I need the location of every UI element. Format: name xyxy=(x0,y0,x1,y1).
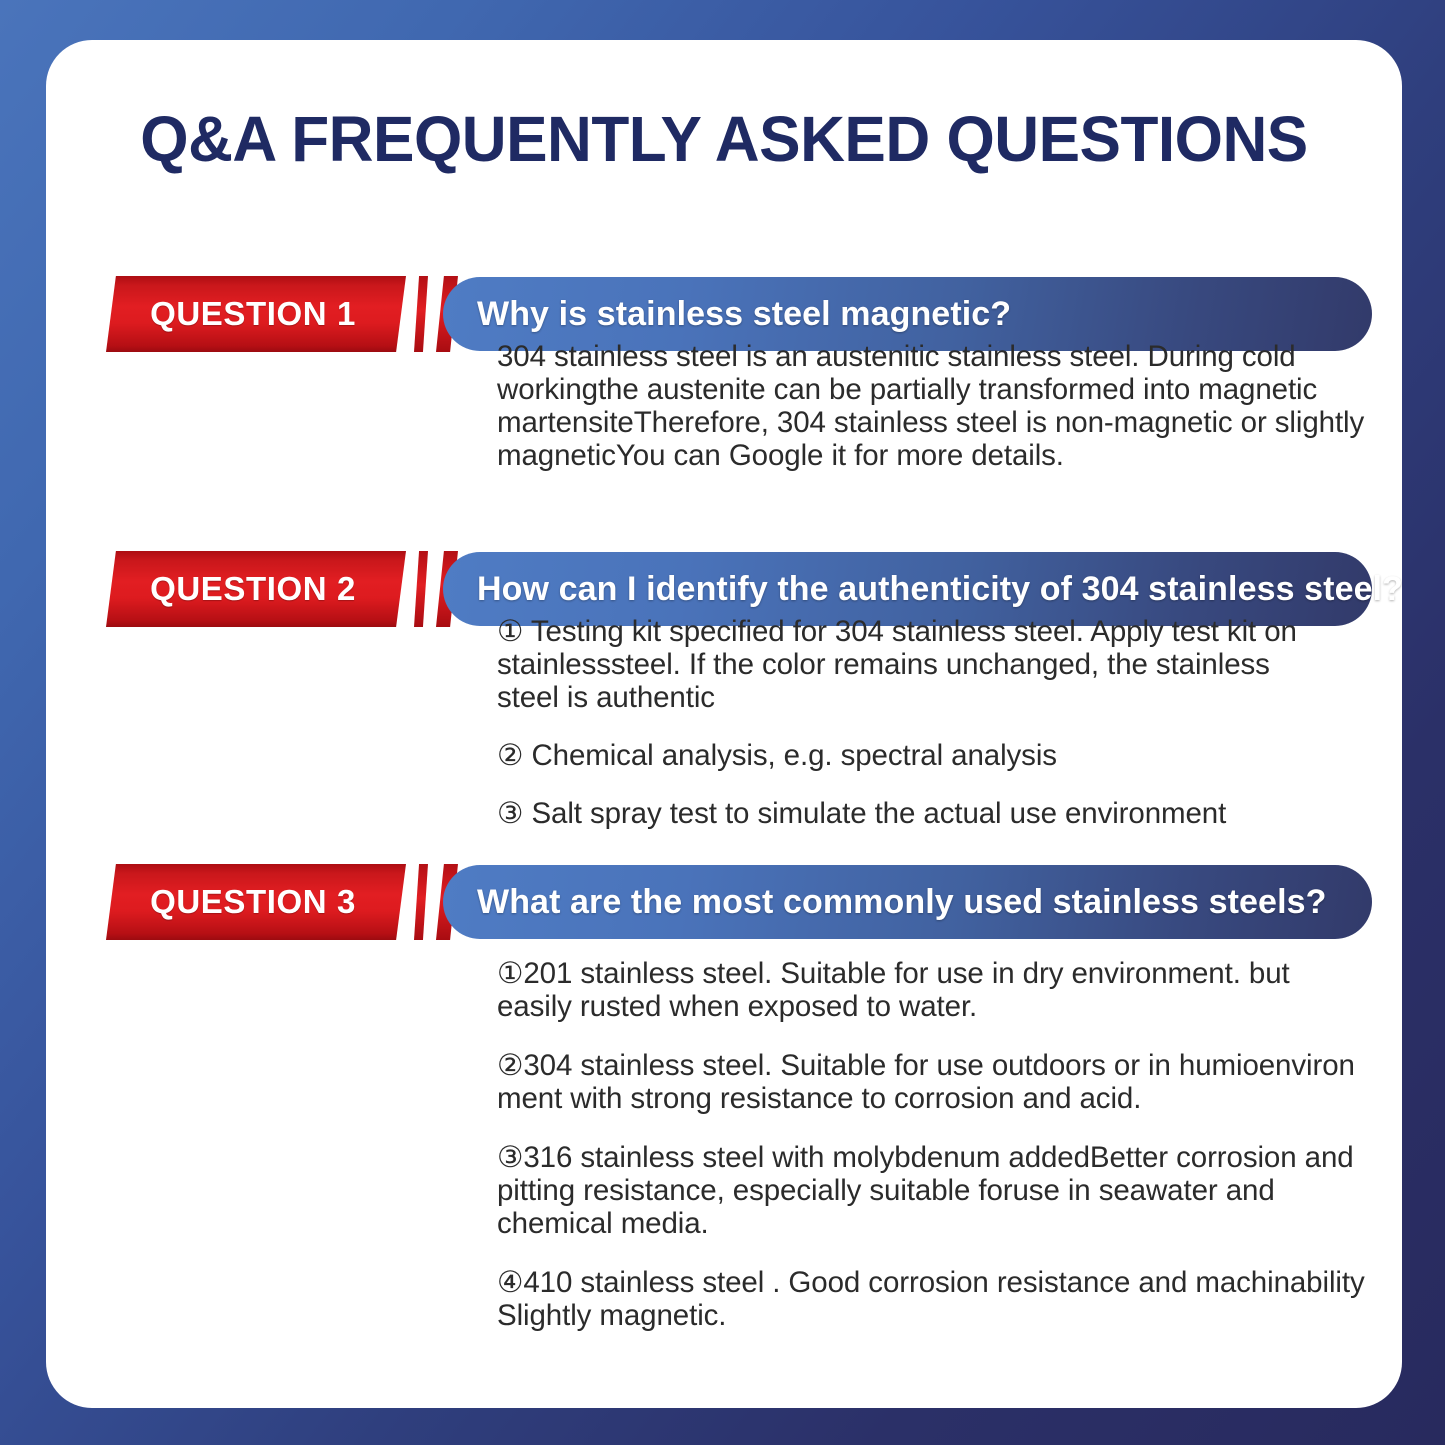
answer-item-1: ①201 stainless steel. Suitable for use i… xyxy=(497,957,1372,1023)
answer-body-3: ①201 stainless steel. Suitable for use i… xyxy=(497,957,1372,1332)
answer-item-3: ③ Salt spray test to simulate the actual… xyxy=(497,797,1307,830)
slash-thin-icon-2 xyxy=(414,551,428,627)
question-pill-3[interactable]: What are the most commonly used stainles… xyxy=(443,865,1372,939)
answer-item-1: ① Testing kit specified for 304 stainles… xyxy=(497,615,1307,714)
slash-thin-icon-3 xyxy=(414,864,428,940)
slash-thin-icon-1 xyxy=(414,276,428,352)
answer-item-2: ②304 stainless steel. Suitable for use o… xyxy=(497,1049,1372,1115)
question-tag-3: QUESTION 3 xyxy=(106,864,406,940)
answer-body-2: ① Testing kit specified for 304 stainles… xyxy=(497,615,1307,830)
answer-item-3: ③316 stainless steel with molybdenum add… xyxy=(497,1141,1372,1240)
page-title: Q&A FREQUENTLY ASKED QUESTIONS xyxy=(66,102,1381,176)
question-tag-label-3: QUESTION 3 xyxy=(150,883,356,921)
question-tag-label-2: QUESTION 2 xyxy=(150,570,356,608)
answer-item-4: ④410 stainless steel . Good corrosion re… xyxy=(497,1266,1372,1332)
question-text-3: What are the most commonly used stainles… xyxy=(443,883,1345,922)
answer-item-2: ② Chemical analysis, e.g. spectral analy… xyxy=(497,739,1307,772)
faq-card: Q&A FREQUENTLY ASKED QUESTIONS QUESTION … xyxy=(46,40,1402,1408)
answer-paragraph: 304 stainless steel is an austenitic sta… xyxy=(497,340,1377,472)
question-text-1: Why is stainless steel magnetic? xyxy=(443,295,1029,334)
question-tag-1: QUESTION 1 xyxy=(106,276,406,352)
answer-body-1: 304 stainless steel is an austenitic sta… xyxy=(497,340,1377,472)
question-text-2: How can I identify the authenticity of 3… xyxy=(443,570,1402,609)
question-tag-2: QUESTION 2 xyxy=(106,551,406,627)
question-tag-label-1: QUESTION 1 xyxy=(150,295,356,333)
